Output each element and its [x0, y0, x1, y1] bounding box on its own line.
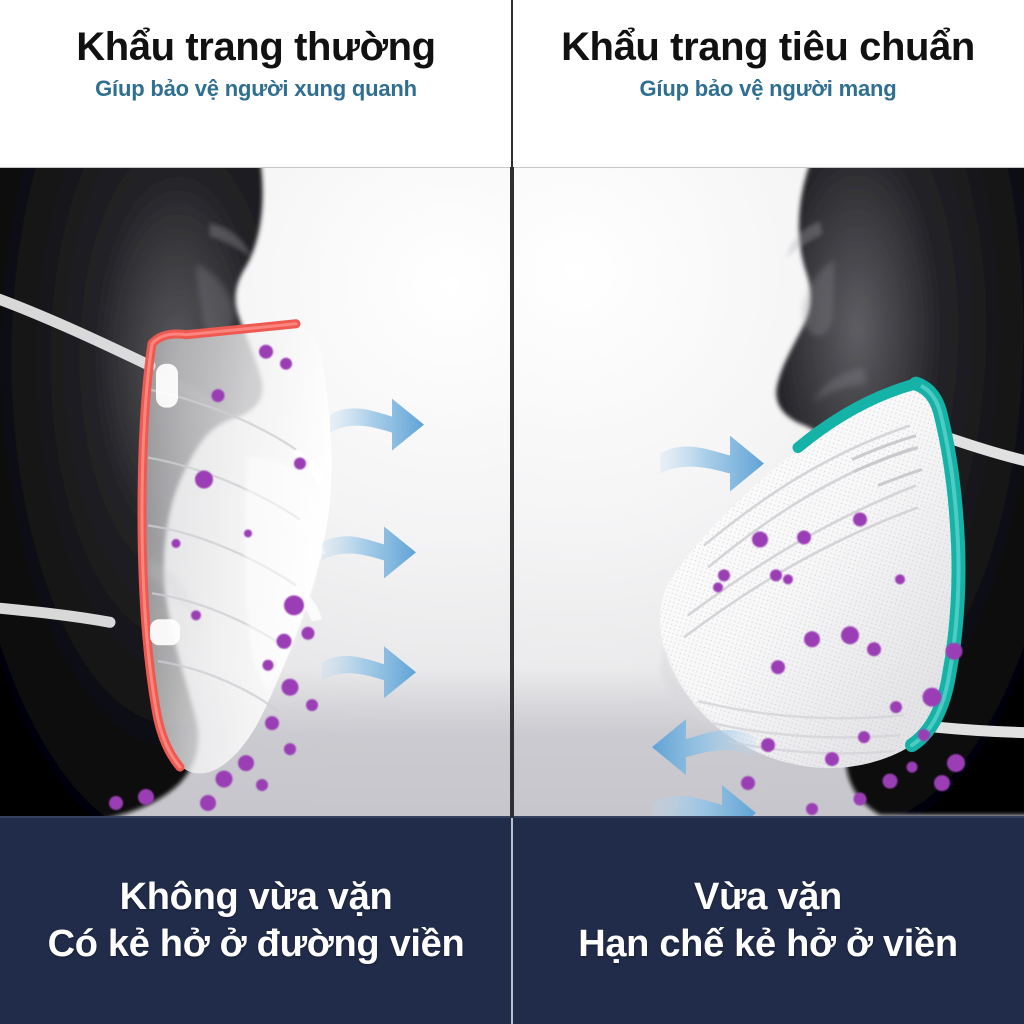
left-caption-band: Không vừa vặn Có kẻ hở ở đường viền — [0, 818, 512, 1024]
photo-divider — [510, 167, 514, 818]
right-caption-band: Vừa vặn Hạn chế kẻ hở ở viền — [512, 818, 1024, 1024]
right-kn95-respirator — [660, 384, 959, 768]
right-header-subtitle: Gíup bảo vệ người mang — [640, 77, 897, 101]
left-header-subtitle: Gíup bảo vệ người xung quanh — [95, 77, 417, 101]
left-header: Khẩu trang thường Gíup bảo vệ người xung… — [0, 0, 512, 167]
right-caption-line-1: Vừa vặn — [694, 874, 842, 921]
mask-comparison-infographic: Khẩu trang thường Gíup bảo vệ người xung… — [0, 0, 1024, 1024]
left-illustration-panel — [0, 167, 512, 818]
left-caption-line-2: Có kẻ hở ở đường viền — [48, 921, 465, 968]
left-panel-artwork — [0, 168, 512, 818]
left-caption-line-1: Không vừa vặn — [120, 874, 393, 921]
right-header-title: Khẩu trang tiêu chuẩn — [561, 26, 975, 68]
left-surgical-mask — [142, 324, 332, 774]
right-header: Khẩu trang tiêu chuẩn Gíup bảo vệ người … — [512, 0, 1024, 167]
right-illustration-panel — [512, 167, 1024, 818]
left-airflow-arrows — [322, 399, 424, 699]
right-panel-artwork — [512, 168, 1024, 818]
left-header-title: Khẩu trang thường — [76, 26, 435, 68]
caption-divider — [511, 818, 513, 1024]
header-divider — [511, 0, 513, 167]
right-caption-line-2: Hạn chế kẻ hở ở viền — [578, 921, 958, 968]
